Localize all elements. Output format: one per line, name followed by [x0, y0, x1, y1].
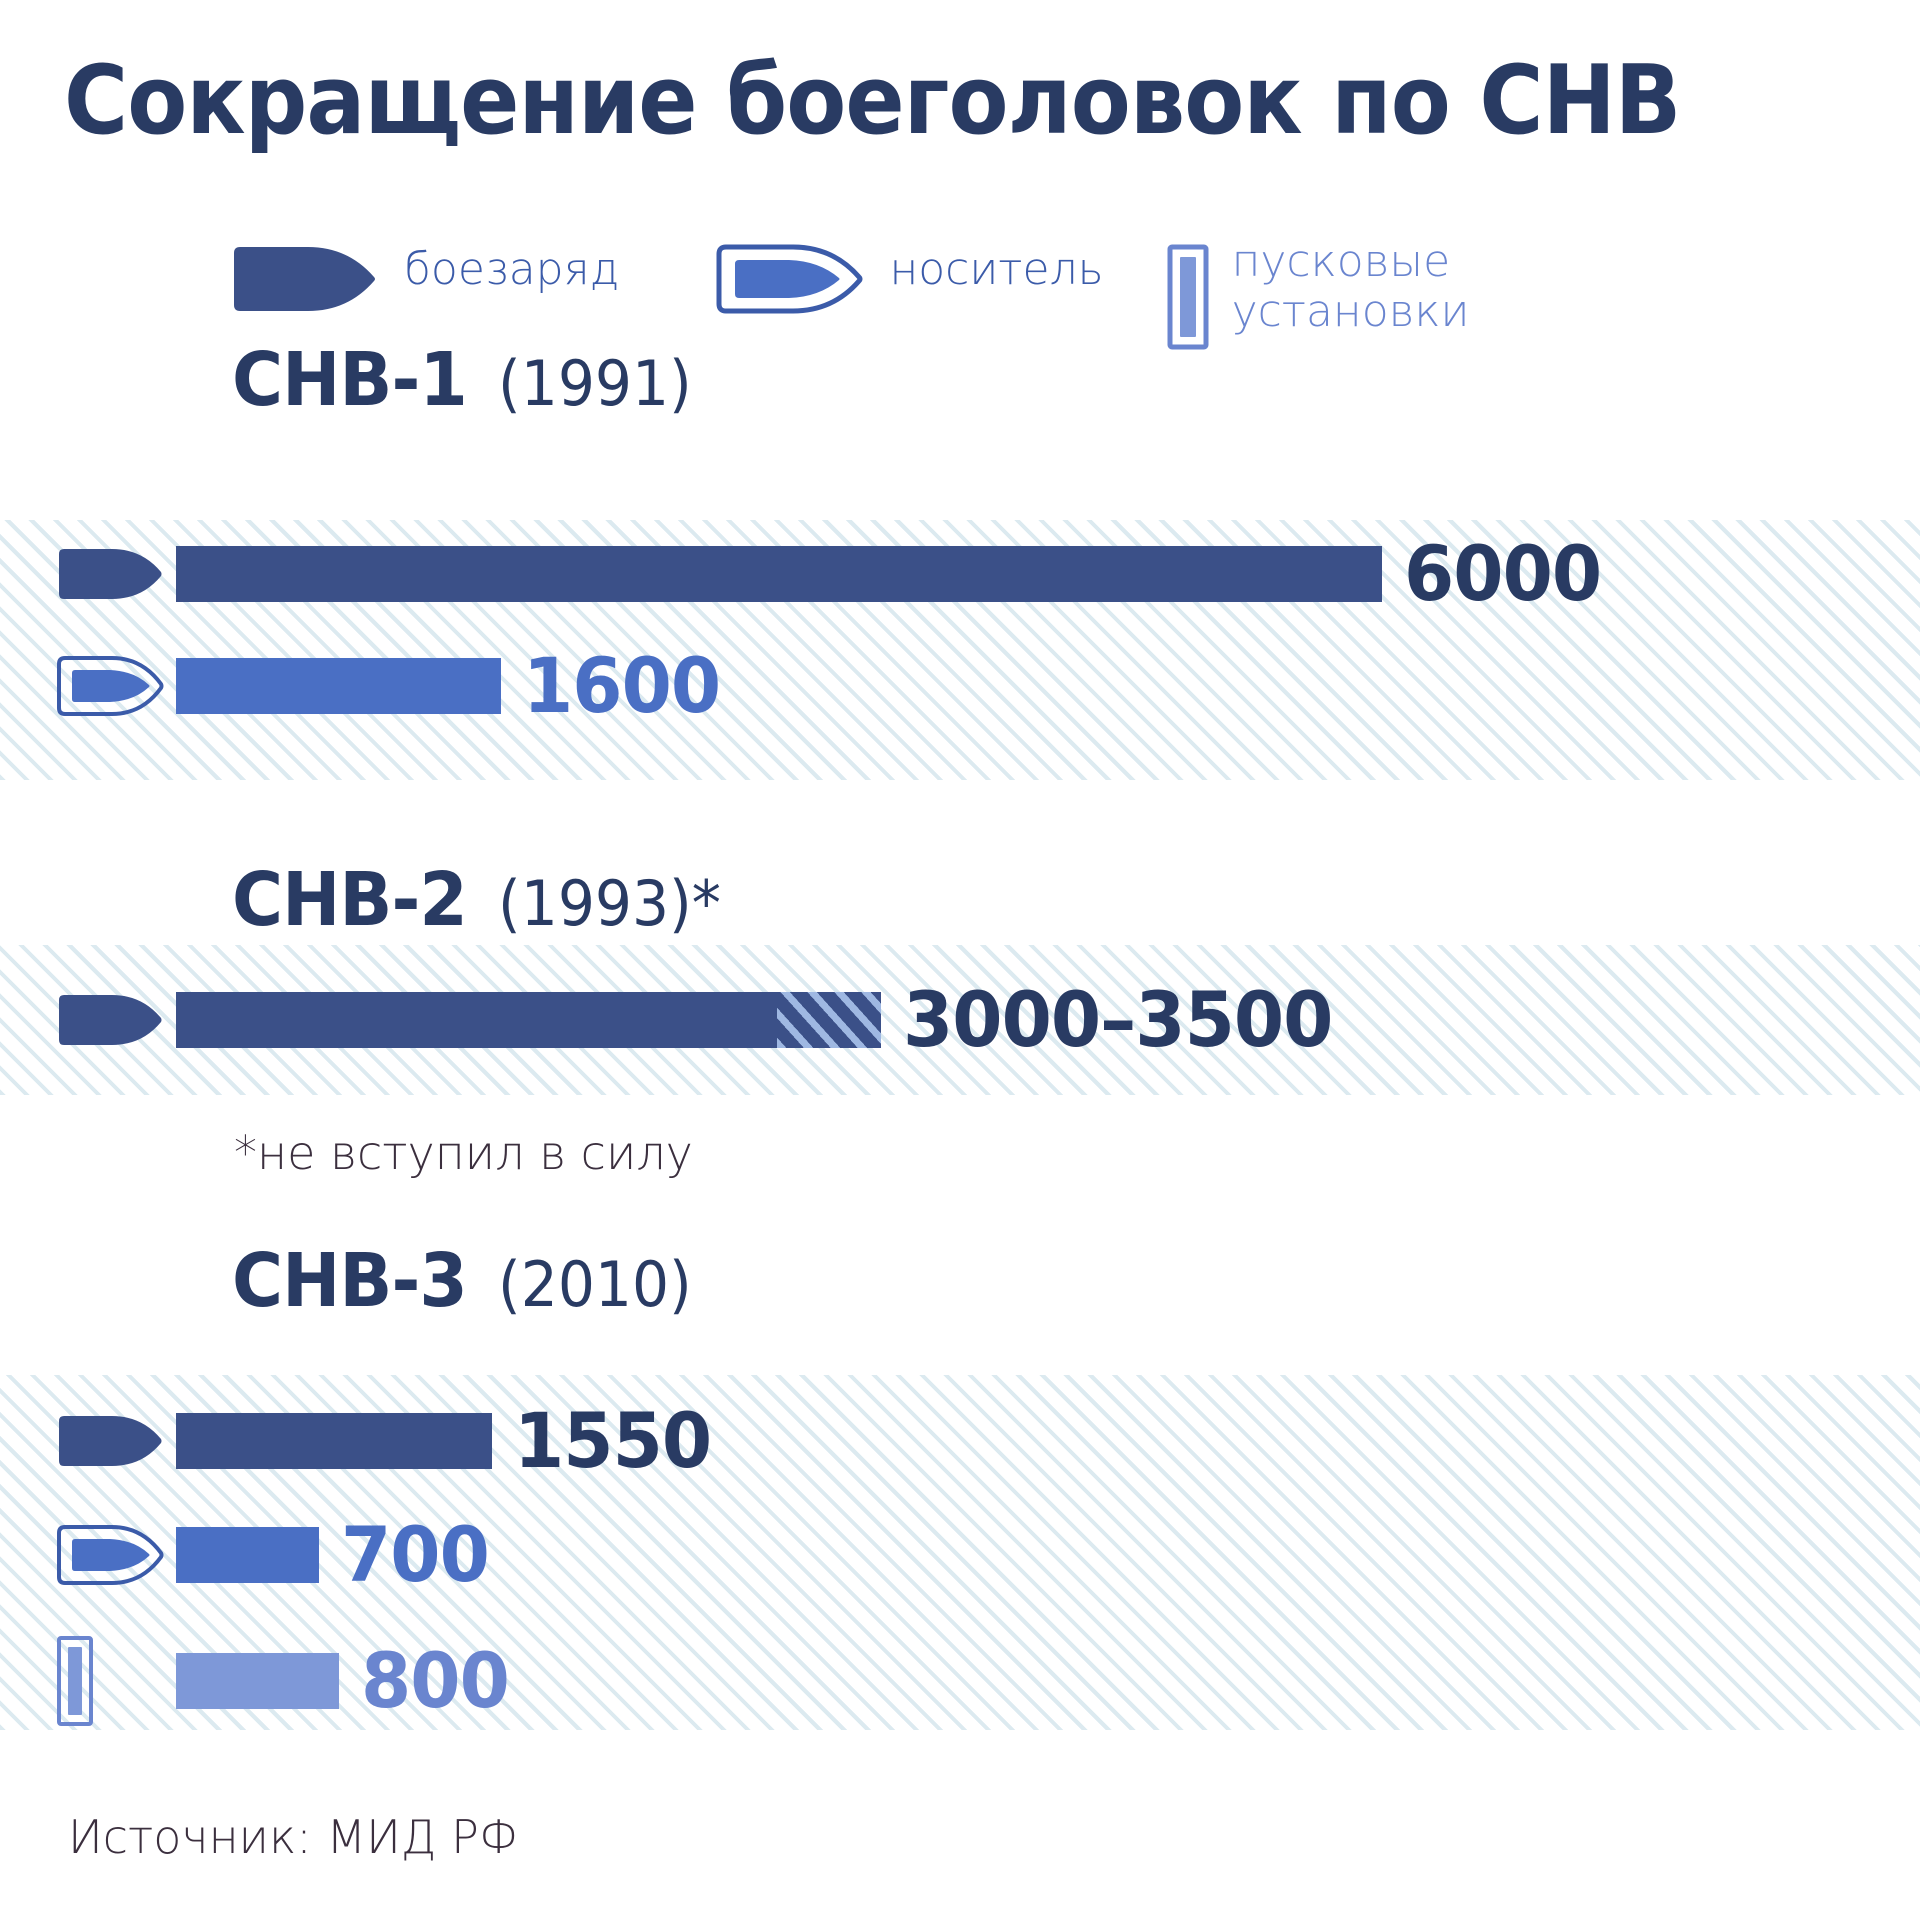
bar-snv3-warhead [176, 1413, 492, 1469]
bar-snv1-warhead [176, 546, 1382, 602]
bar-wrap: 3000–3500 [176, 992, 1355, 1048]
launcher-tube-icon [1166, 243, 1210, 356]
bullet-filled-icon [56, 992, 176, 1048]
legend-label-carrier: носитель [889, 245, 1103, 295]
bar-value-snv3-warhead: 1550 [514, 1413, 711, 1469]
bar-wrap: 6000 [176, 546, 1612, 602]
bar-wrap: 700 [176, 1527, 497, 1583]
bar-value-snv3-launcher: 800 [361, 1653, 509, 1709]
section-header-snv-3: СНВ-3(2010) [232, 1238, 704, 1324]
bar-snv3-carrier [176, 1527, 319, 1583]
bar-wrap: 1600 [176, 658, 731, 714]
bar-snv2-warhead-range [777, 992, 881, 1048]
legend-item-carrier: носитель [715, 243, 1103, 320]
section-header-snv-1: СНВ-1(1991) [232, 337, 704, 423]
legend-item-warhead: боезаряд [230, 243, 619, 320]
source-credit: Источник: МИД РФ [68, 1810, 518, 1864]
bar-row-snv2-warhead: 3000–3500 [0, 992, 1355, 1048]
section-year-snv-3: (2010) [498, 1248, 692, 1321]
legend-label-launcher: пусковые установки [1232, 237, 1470, 337]
bar-value-snv1-carrier: 1600 [523, 658, 720, 714]
bar-row-snv3-launcher: 800 [0, 1635, 517, 1727]
infographic-page: Сокращение боеголовок по СНВ боезаряд но… [0, 0, 1920, 1920]
bar-value-snv3-carrier: 700 [341, 1527, 489, 1583]
bullet-outline-icon [56, 1524, 176, 1586]
bullet-outline-icon [56, 655, 176, 717]
bar-row-snv1-carrier: 1600 [0, 655, 731, 717]
bullet-filled-icon [230, 243, 380, 320]
bar-row-snv3-carrier: 700 [0, 1524, 497, 1586]
legend-item-launcher: пусковые установки [1166, 243, 1470, 356]
section-name-snv-1: СНВ-1 [232, 337, 467, 423]
bar-value-snv1-warhead: 6000 [1404, 546, 1601, 602]
bar-value-snv2-warhead: 3000–3500 [903, 992, 1332, 1048]
bar-row-snv1-warhead: 6000 [0, 546, 1612, 602]
bar-row-snv3-warhead: 1550 [0, 1413, 722, 1469]
footnote-not-in-force: *не вступил в силу [234, 1126, 693, 1180]
bullet-filled-icon [56, 546, 176, 602]
page-title: Сокращение боеголовок по СНВ [64, 46, 1680, 156]
bar-snv2-warhead-solid [176, 992, 777, 1048]
section-name-snv-3: СНВ-3 [232, 1238, 467, 1324]
section-year-snv-1: (1991) [498, 347, 692, 420]
section-name-snv-2: СНВ-2 [232, 857, 467, 943]
launcher-tube-icon [56, 1635, 176, 1727]
bullet-outline-icon [715, 243, 865, 320]
bar-snv1-carrier [176, 658, 501, 714]
bullet-filled-icon [56, 1413, 176, 1469]
bar-wrap: 800 [176, 1653, 517, 1709]
legend-label-warhead: боезаряд [404, 245, 619, 295]
section-year-snv-2: (1993)* [498, 867, 721, 940]
section-header-snv-2: СНВ-2(1993)* [232, 857, 735, 943]
bar-wrap: 1550 [176, 1413, 722, 1469]
bar-snv3-launcher [176, 1653, 339, 1709]
